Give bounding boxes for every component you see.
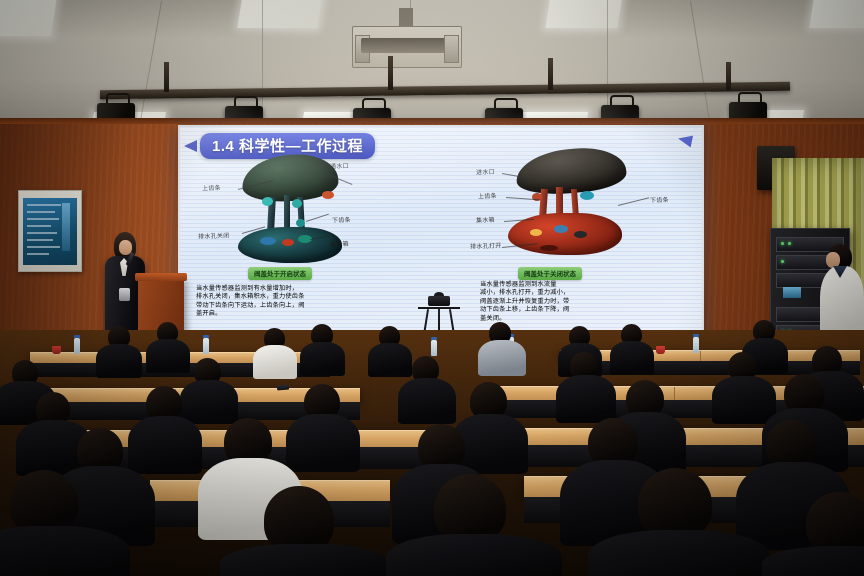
ceiling-light-panel bbox=[809, 0, 864, 28]
right-diagram-caption: 阀盖处于关闭状态 bbox=[518, 267, 582, 280]
diagram-label: 进水口 bbox=[476, 167, 495, 177]
ac-grille bbox=[361, 38, 453, 53]
right-explanation-text: 当水量传感器监测到水流量 减小，排水孔打开，重力减小， 阀盖逐渐上升并恢复重力时… bbox=[480, 281, 690, 323]
ac-mount-stem bbox=[399, 8, 413, 28]
truss-support-post bbox=[548, 58, 553, 90]
title-arrow-icon bbox=[184, 140, 197, 152]
gear-node bbox=[580, 191, 594, 200]
paper-cup bbox=[656, 346, 665, 354]
rack-display bbox=[783, 287, 801, 298]
poster-side-bar bbox=[62, 203, 70, 251]
diagram-label: 通水口 bbox=[330, 161, 349, 171]
water-bottle bbox=[431, 340, 437, 356]
presenter-badge bbox=[119, 288, 130, 301]
ceiling-light-panel bbox=[237, 0, 322, 28]
diagram-label: 上齿条 bbox=[478, 191, 497, 201]
ceiling-light-panel bbox=[0, 0, 57, 36]
water-bottle bbox=[693, 337, 699, 353]
ceiling-seam bbox=[690, 1, 711, 128]
diagram-label: 集水箱 bbox=[330, 239, 349, 249]
water-bottle bbox=[74, 338, 80, 354]
technician-body bbox=[820, 266, 864, 340]
seal-node bbox=[322, 191, 334, 199]
poster-content bbox=[23, 198, 77, 265]
truss-support-post bbox=[726, 62, 731, 90]
ceiling-seam bbox=[139, 1, 162, 127]
wall-top-trim bbox=[0, 118, 864, 124]
gear-node bbox=[262, 197, 273, 206]
gear-node bbox=[296, 219, 305, 227]
drain-hole-open bbox=[540, 245, 558, 251]
diagram-label: 下齿条 bbox=[650, 195, 669, 205]
diagram-left-machine bbox=[198, 153, 398, 273]
left-diagram-caption: 阀盖处于开启状态 bbox=[248, 267, 312, 280]
diagram-label: 排水孔打开 bbox=[470, 240, 502, 250]
base-detail bbox=[282, 239, 294, 246]
diagram-label: 下齿条 bbox=[332, 215, 351, 225]
diagram-label: 排水孔关闭 bbox=[198, 230, 230, 240]
corner-arrow-icon bbox=[677, 133, 693, 148]
diagram-label: 集水箱 bbox=[476, 215, 495, 225]
base-detail bbox=[574, 231, 587, 238]
rack-gear-column bbox=[284, 195, 290, 231]
truss-support-post bbox=[164, 62, 169, 92]
base-detail bbox=[530, 229, 542, 236]
wall-notice-poster bbox=[18, 190, 82, 272]
base-detail bbox=[260, 237, 276, 245]
base-detail bbox=[554, 225, 568, 233]
truss-support-post bbox=[388, 56, 393, 90]
diagram-right-machine bbox=[468, 147, 678, 271]
mobile-phone[interactable] bbox=[277, 385, 289, 391]
camera-body bbox=[428, 296, 450, 306]
ceiling-ac-unit bbox=[352, 26, 462, 68]
podium-top bbox=[135, 273, 187, 281]
gear-node bbox=[292, 199, 302, 208]
diagram-label: 上齿条 bbox=[202, 183, 221, 193]
technician-person bbox=[820, 244, 864, 340]
lecture-hall-photo: 1.4 科学性—工作过程 上齿条 bbox=[0, 0, 864, 576]
ceiling-light-panel bbox=[545, 0, 622, 28]
water-bottle bbox=[203, 338, 209, 354]
left-explanation-text: 当水量传感器监测到有水量增加时， 排水孔关闭，集水箱积水，重力使齿条 带动下齿条… bbox=[196, 285, 404, 319]
ac-vent bbox=[444, 35, 459, 63]
paper-cup bbox=[52, 346, 61, 354]
